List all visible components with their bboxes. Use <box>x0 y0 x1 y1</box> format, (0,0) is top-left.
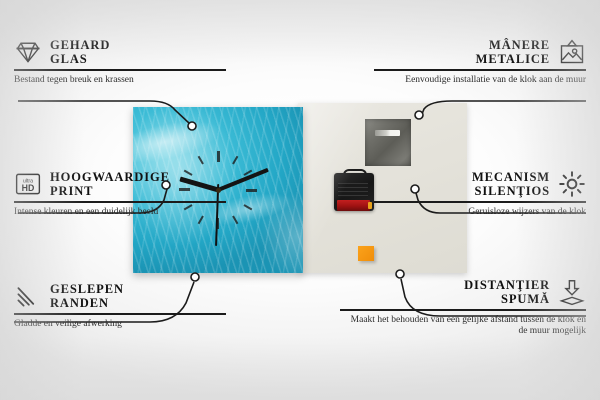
feature-manere-metalice: MÂNEREMETALICE Eenvoudige installatie va… <box>374 38 586 86</box>
feature-distantier-spuma: DISTANŢIERSPUMĂ Maakt het behouden van e… <box>340 278 586 338</box>
svg-text:HD: HD <box>22 183 35 193</box>
feature-description: Maakt het behouden van een gelijke afsta… <box>340 315 586 338</box>
feature-rule <box>14 313 226 315</box>
feature-header: GESLEPENRANDEN <box>14 282 226 310</box>
feature-geslepen-randen: GESLEPENRANDEN Gladde en veilige afwerki… <box>14 282 226 330</box>
gear-icon <box>558 170 586 198</box>
feature-title: GESLEPENRANDEN <box>50 282 124 310</box>
feature-description: Geruisloze wijzers van de klok <box>374 207 586 219</box>
feature-description: Bestand tegen breuk en krassen <box>14 75 226 87</box>
feature-header: MÂNEREMETALICE <box>374 38 586 66</box>
feature-header: MECANISMSILENŢIOS <box>374 170 586 198</box>
arrow-down-layers-icon <box>558 278 586 306</box>
ultra-hd-icon: ultra HD <box>14 170 42 198</box>
picture-hanger-icon <box>558 38 586 66</box>
feature-title: MECANISMSILENŢIOS <box>472 170 550 198</box>
clock-mechanism-part <box>334 169 374 211</box>
hanger-slot <box>375 130 400 136</box>
feature-title: MÂNEREMETALICE <box>476 38 550 66</box>
mechanism-loop <box>343 169 367 180</box>
feature-title: HOOGWAARDIGEPRINT <box>50 170 170 198</box>
diagonal-lines-icon <box>14 282 42 310</box>
feature-rule <box>374 201 586 203</box>
battery-part <box>337 200 370 211</box>
feature-header: ultra HD HOOGWAARDIGEPRINT <box>14 170 226 198</box>
feature-description: Intense kleuren en een duidelijk beeld <box>14 207 226 219</box>
feature-description: Gladde en veilige afwerking <box>14 319 226 331</box>
feature-hoogwaardige-print: ultra HD HOOGWAARDIGEPRINT Intense kleur… <box>14 170 226 218</box>
feature-rule <box>340 309 586 311</box>
foam-spacer-part <box>358 246 374 261</box>
feature-description: Eenvoudige installatie van de klok aan d… <box>374 75 586 87</box>
feature-title: GEHARDGLAS <box>50 38 110 66</box>
feature-rule <box>14 69 226 71</box>
feature-rule <box>14 201 226 203</box>
mechanism-vents <box>338 183 368 197</box>
battery-terminal <box>368 202 372 209</box>
metal-hanger-part <box>365 119 411 166</box>
feature-title: DISTANŢIERSPUMĂ <box>464 278 550 306</box>
infographic-canvas: GEHARDGLAS Bestand tegen breuk en krasse… <box>0 0 600 400</box>
feature-rule <box>374 69 586 71</box>
mechanism-body <box>334 173 374 211</box>
diamond-icon <box>14 38 42 66</box>
feature-header: DISTANŢIERSPUMĂ <box>340 278 586 306</box>
feature-mecanism-silentios: MECANISMSILENŢIOS Geruisloze wijzers van… <box>374 170 586 218</box>
feature-gehard-glas: GEHARDGLAS Bestand tegen breuk en krasse… <box>14 38 226 86</box>
feature-header: GEHARDGLAS <box>14 38 226 66</box>
